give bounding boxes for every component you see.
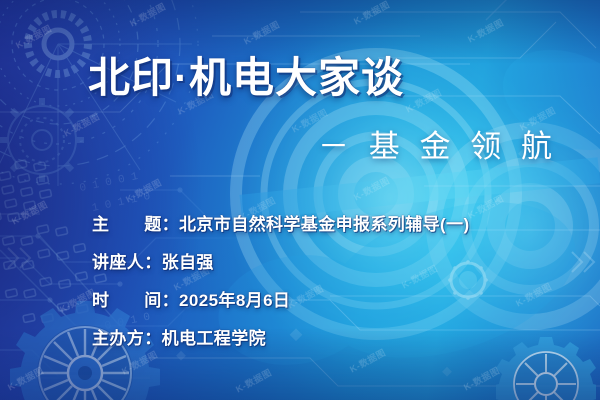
poster-subtitle: － 基 金 领 航 (318, 121, 558, 166)
poster-banner: 0 1 0 0 1 1 0 1 1 0 0 0 1 0 (0, 0, 600, 400)
poster-info-block: 主 题：北京市自然科学基金申报系列辅导(一) 讲座人：张自强 时 间：2025年… (92, 206, 562, 358)
info-label: 时 间： (92, 291, 179, 310)
info-row: 主办方：机电工程学院 (92, 320, 562, 358)
info-row: 时 间：2025年8月6日 (92, 282, 562, 320)
info-row: 讲座人：张自强 (92, 244, 562, 282)
poster-title: 北印·机电大家谈 (88, 44, 404, 105)
info-row: 主 题：北京市自然科学基金申报系列辅导(一) (92, 206, 562, 244)
info-value: 2025年8月6日 (179, 291, 290, 310)
info-value: 机电工程学院 (162, 329, 266, 348)
info-label: 主办方： (92, 329, 162, 348)
info-label: 讲座人： (92, 253, 162, 272)
info-value: 张自强 (162, 253, 214, 272)
info-value: 北京市自然科学基金申报系列辅导(一) (179, 215, 470, 234)
info-label: 主 题： (92, 215, 179, 234)
